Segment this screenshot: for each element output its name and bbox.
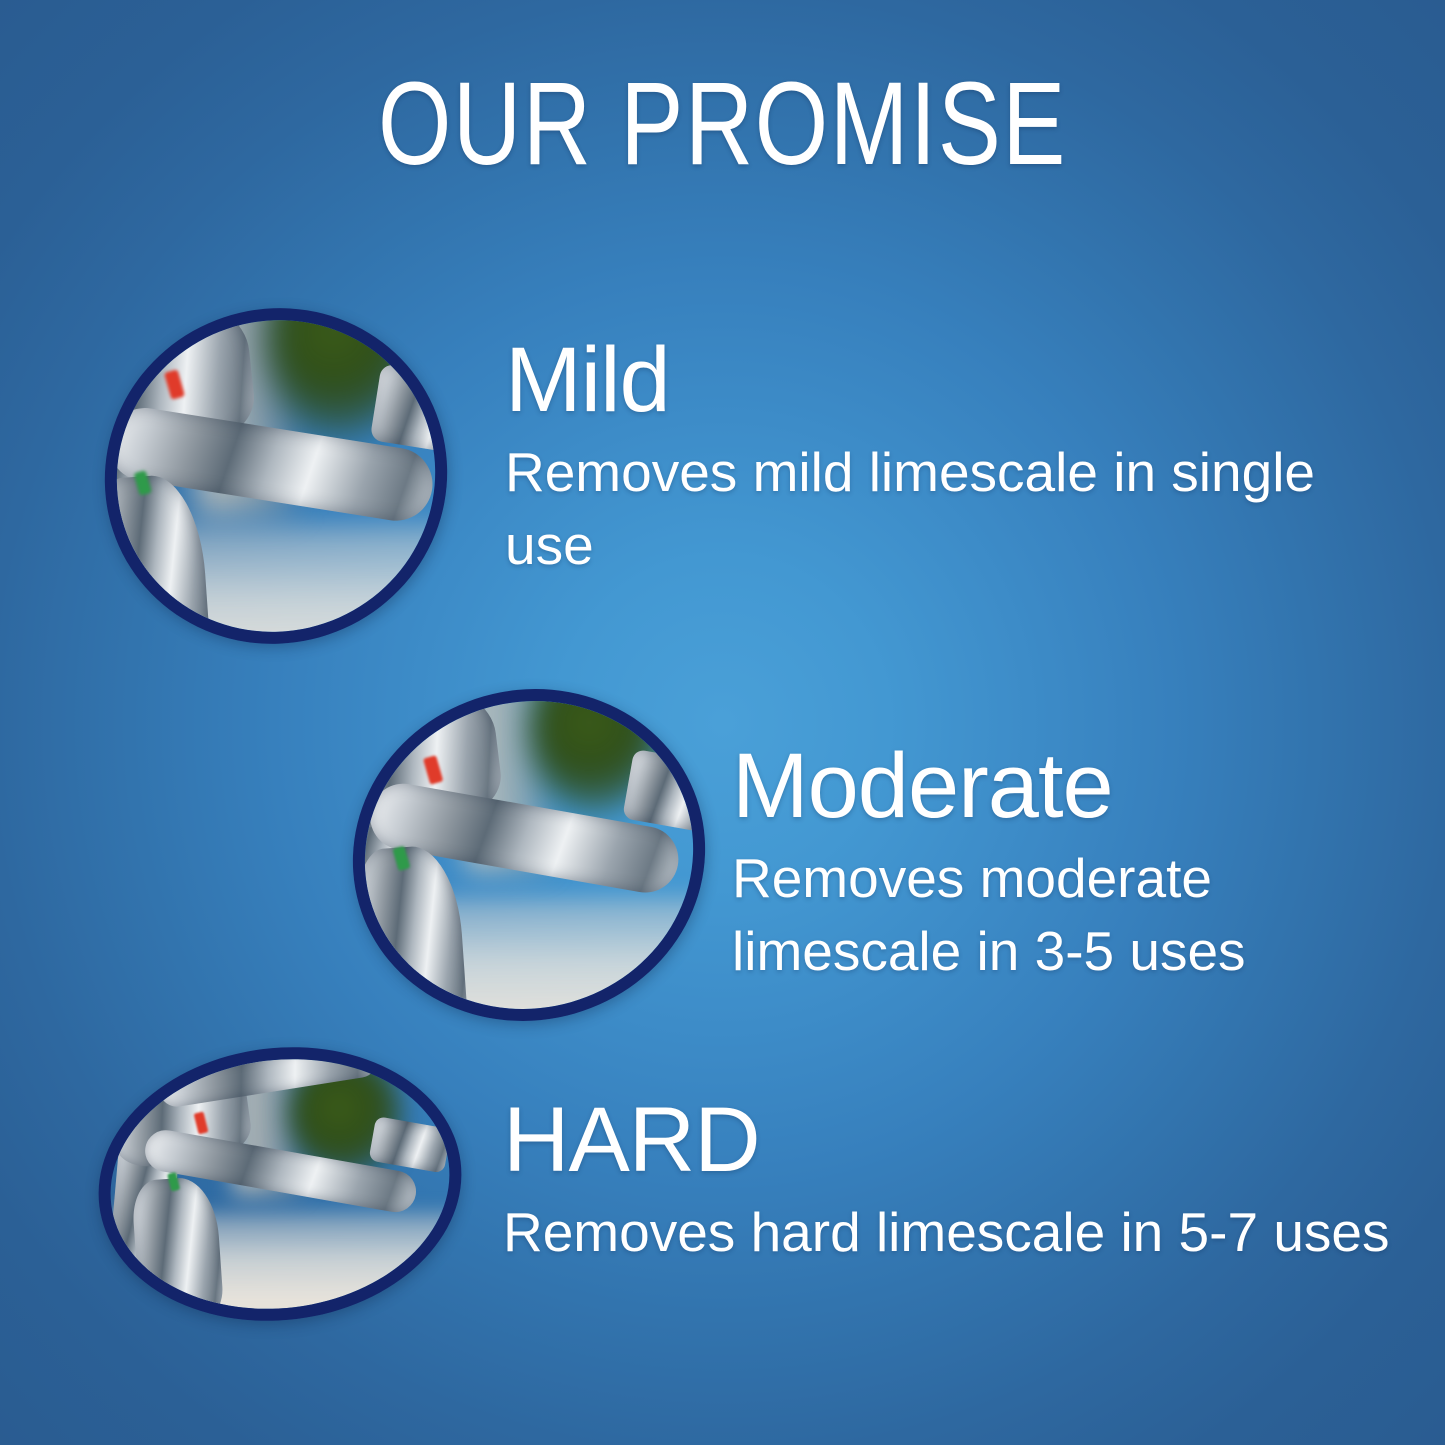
faucet-photo-mild [67,269,485,682]
promise-heading-moderate: Moderate [732,740,1382,832]
photo-background-sink [67,524,485,683]
promise-item-moderate: Moderate Removes moderate limescale in 3… [732,740,1382,988]
promise-heading-hard: HARD [503,1094,1393,1186]
promise-heading-mild: Mild [505,334,1315,426]
promise-item-hard: HARD Removes hard limescale in 5-7 uses [503,1094,1393,1269]
faucet-image-moderate [313,648,744,1063]
promise-description-hard: Removes hard limescale in 5-7 uses [503,1196,1393,1269]
faucet-image-hard [83,1027,477,1341]
faucet-image-mild [51,253,501,698]
faucet-spout-tip [370,363,480,454]
promise-description-mild: Removes mild limescale in single use [505,436,1315,582]
faucet-photo-moderate [328,662,730,1047]
faucet-spout-tip [622,748,726,833]
faucet-photo-hard [96,1040,464,1328]
promise-poster: OUR PROMISE Mild Removes mild limescale … [0,0,1445,1445]
promise-description-moderate: Removes moderate limescale in 3-5 uses [732,842,1382,988]
page-title: OUR PROMISE [145,62,1301,187]
promise-item-mild: Mild Removes mild limescale in single us… [505,334,1315,582]
